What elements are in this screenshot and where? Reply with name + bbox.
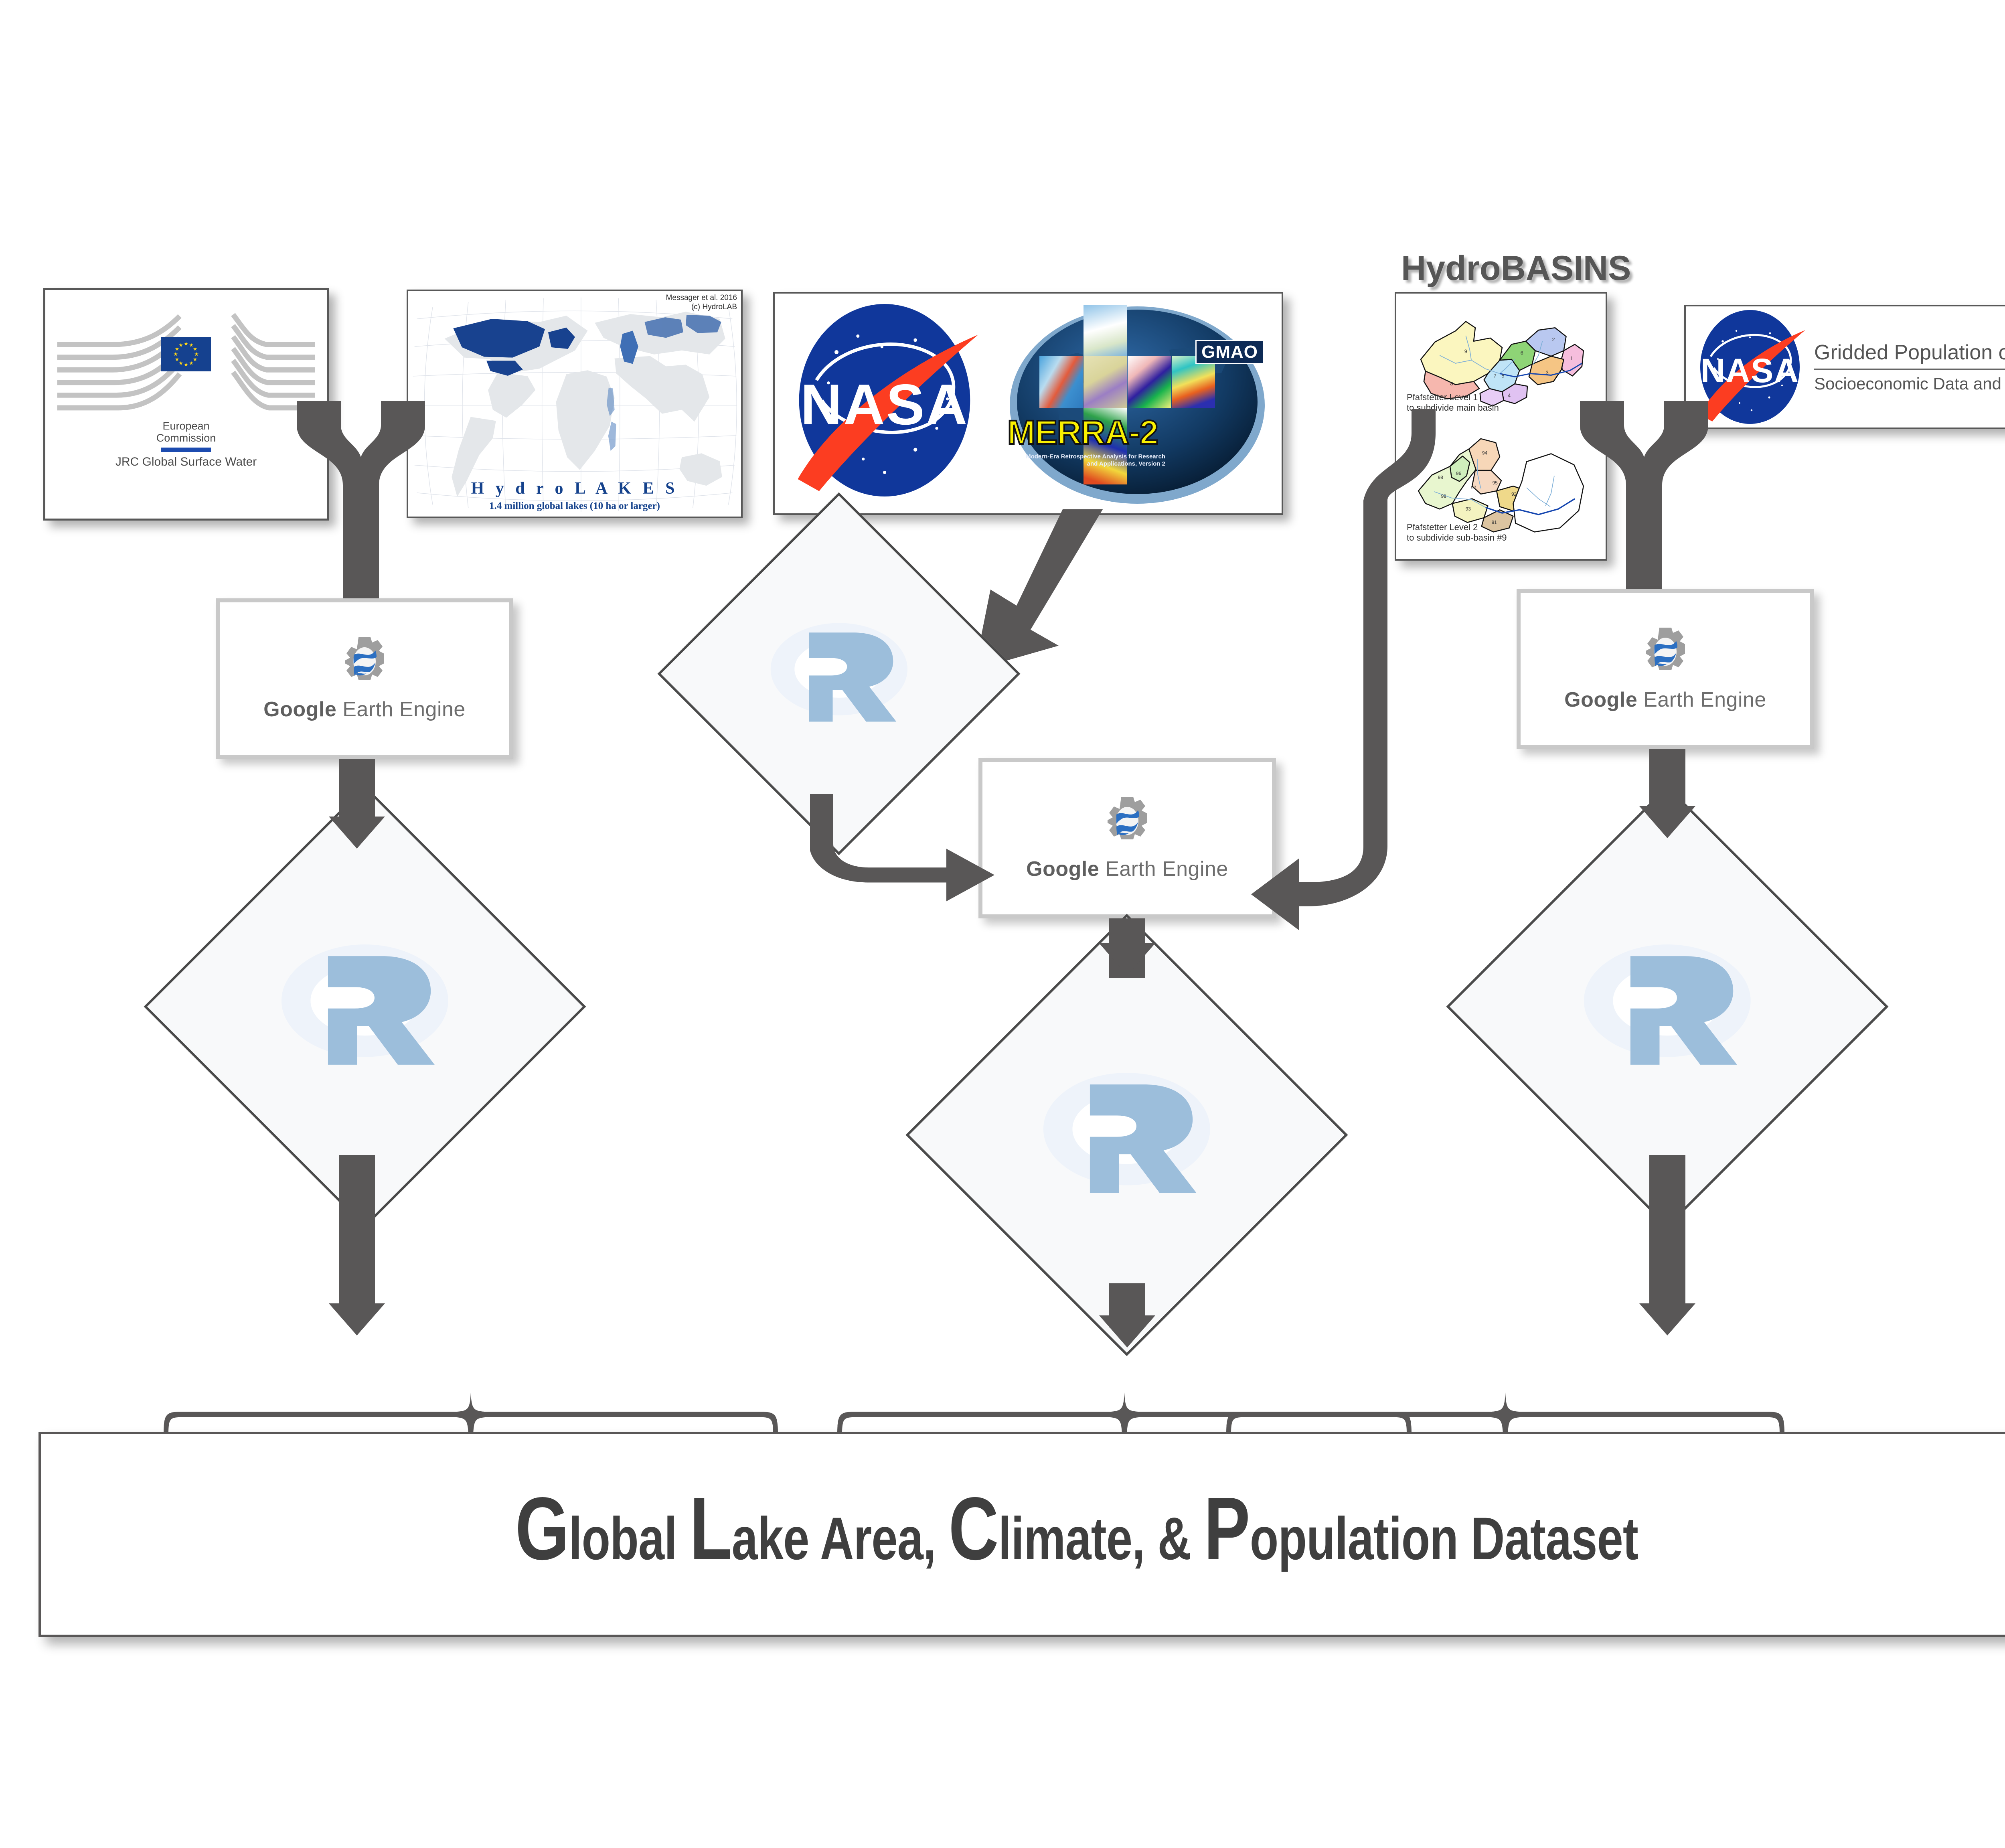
r-node-right[interactable] (1511, 850, 1824, 1163)
connector-r-to-gee-middle (810, 794, 1003, 938)
r-logo (1570, 910, 1764, 1104)
title-cap-p: P (1204, 1479, 1250, 1578)
gee-label: Google Earth Engine (263, 697, 466, 721)
r-node-middle-lower[interactable] (970, 979, 1283, 1291)
connector-right-to-gee-middle (1251, 409, 1460, 930)
brace-left (160, 1364, 786, 1436)
connector-r-left-to-output-head (329, 1303, 385, 1335)
hydrobasins-heading: HydroBASINS (1401, 249, 1631, 288)
svg-text:5: 5 (1501, 373, 1504, 379)
svg-text:4: 4 (1508, 393, 1511, 399)
title-cap-c: C (948, 1479, 998, 1578)
connector-gee-right-to-r (1649, 749, 1685, 809)
connector-gee-left-to-r (339, 759, 375, 819)
title-cap-l: L (690, 1479, 732, 1578)
svg-text:3: 3 (1546, 370, 1549, 376)
connector-r-right-to-output (1649, 1155, 1685, 1307)
connector-gee-left-to-r-head (329, 817, 385, 849)
brace-right (1223, 1364, 1792, 1436)
sedac-title: Socioeconomic Data and Applications Cent… (1814, 374, 2005, 393)
google-earth-engine-icon (1103, 795, 1151, 847)
gee-node-middle[interactable]: Google Earth Engine (978, 758, 1276, 918)
gee-label: Google Earth Engine (1564, 688, 1766, 712)
title-rest-climate: limate, (998, 1505, 1158, 1572)
source-card-nasa-merra2: NASA (773, 292, 1283, 515)
title-rest-population-dataset: opulation Dataset (1250, 1505, 1638, 1572)
svg-text:1: 1 (1570, 355, 1573, 361)
title-cap-g: G (515, 1479, 569, 1578)
google-earth-engine-icon (340, 636, 389, 687)
jrc-label: JRC Global Surface Water (115, 455, 257, 469)
svg-text:7: 7 (1494, 373, 1497, 379)
merra2-wordmark: MERRA-2 (1007, 413, 1158, 452)
r-logo (759, 594, 919, 754)
svg-text:94: 94 (1482, 450, 1488, 456)
svg-text:NASA: NASA (1701, 352, 1799, 389)
gee-node-right[interactable]: Google Earth Engine (1517, 589, 1814, 749)
output-dataset-title: Global Lake Area, Climate, & Population … (515, 1495, 1638, 1573)
gee-label: Google Earth Engine (1026, 857, 1228, 881)
svg-text:93: 93 (1466, 506, 1471, 512)
eu-rule (161, 448, 211, 452)
gmao-badge: GMAO (1195, 340, 1264, 364)
eu-flag (161, 337, 211, 371)
svg-text:2: 2 (1552, 336, 1555, 342)
gpw-title: Gridded Population of the World (1814, 340, 2005, 365)
svg-text:95: 95 (1493, 480, 1498, 486)
svg-text:92: 92 (1511, 491, 1517, 497)
merra2-subtitle: Modern-Era Retrospective Analysis for Re… (1009, 453, 1165, 468)
connector-r-right-to-output-head (1639, 1303, 1695, 1335)
connector-gee-middle-to-r-head (1099, 943, 1155, 975)
svg-text:8: 8 (1450, 381, 1453, 387)
connector-merge-right (1564, 401, 1788, 602)
connector-gee-right-to-r-head (1639, 806, 1695, 838)
output-dataset-bar: Global Lake Area, Climate, & Population … (38, 1432, 2005, 1637)
title-rest-global: lobal (569, 1505, 690, 1572)
connector-r-middle-to-output-head (1099, 1315, 1155, 1347)
connector-r-left-to-output (339, 1155, 375, 1307)
google-earth-engine-icon (1641, 626, 1689, 677)
title-ampersand: & (1158, 1505, 1204, 1572)
workflow-diagram: European Commission JRC Global Surface W… (0, 0, 2005, 1848)
svg-text:9: 9 (1464, 348, 1467, 354)
title-rest-lake-area: ake Area, (732, 1505, 949, 1572)
r-logo (1030, 1038, 1224, 1232)
svg-text:97: 97 (1471, 485, 1476, 490)
svg-text:6: 6 (1521, 350, 1523, 356)
nasa-meatball-logo: NASA (784, 300, 985, 500)
gpw-divider (1814, 369, 2005, 370)
r-node-middle-upper[interactable] (711, 545, 967, 802)
connector-merge-left (281, 401, 505, 602)
hydrolakes-credit: Messager et al. 2016 (c) HydroLAB (666, 294, 737, 312)
gee-node-left[interactable]: Google Earth Engine (216, 598, 513, 759)
r-node-left[interactable] (209, 850, 521, 1163)
svg-text:NASA: NASA (800, 373, 968, 437)
r-logo (268, 910, 462, 1104)
